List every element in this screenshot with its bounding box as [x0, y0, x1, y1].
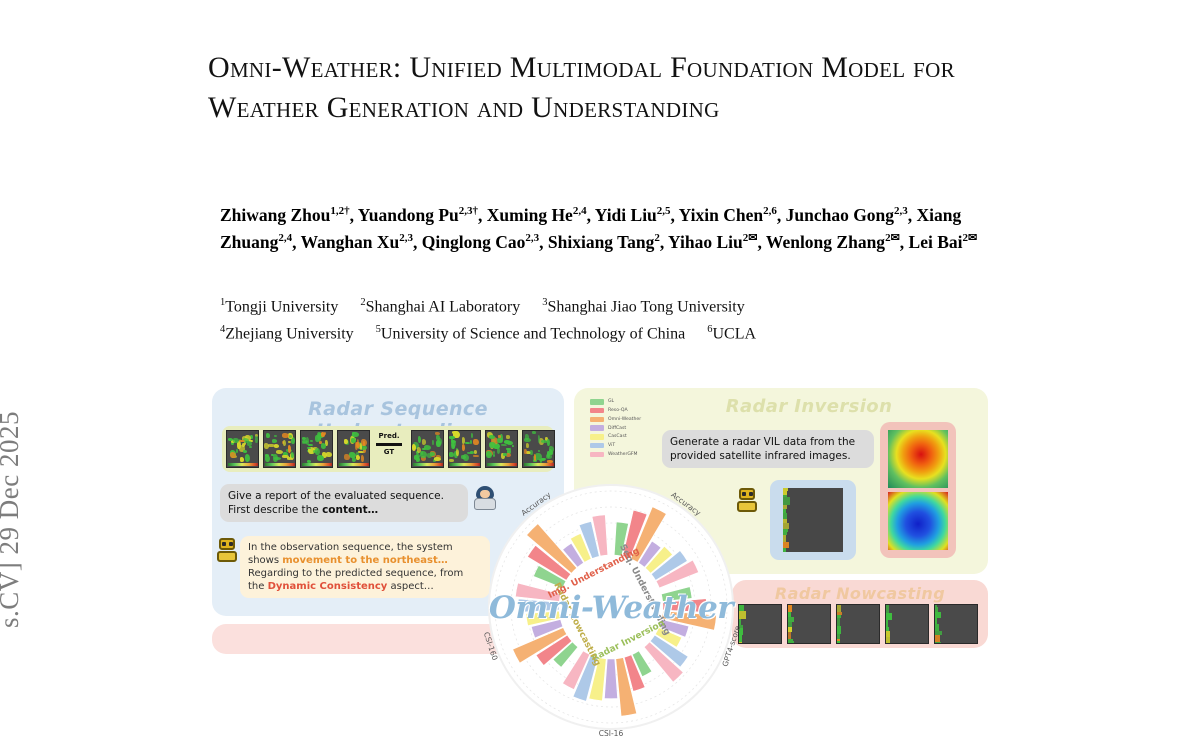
- pred-gt-divider: Pred.GT: [374, 432, 404, 466]
- legend-label: DiffCast: [608, 426, 626, 431]
- question-bubble-sequence: Give a report of the evaluated sequence.…: [220, 484, 468, 522]
- panel-heading-radar-inversion: Radar Inversion: [704, 396, 914, 417]
- radar-frame-strip: Pred.GT: [222, 426, 554, 472]
- author-name: Lei Bai2✉: [909, 232, 978, 252]
- chart-tick-label: CSI-16: [599, 729, 624, 736]
- legend-item: Reso-QA: [590, 407, 664, 415]
- answer-highlight-movement: movement to the northeast…: [282, 555, 448, 566]
- legend-swatch: [590, 408, 604, 414]
- nowcasting-frame: [934, 604, 978, 644]
- omni-weather-wordmark: Omni-Weather: [482, 590, 740, 626]
- legend-label: GL: [608, 399, 614, 404]
- question-bubble-inversion: Generate a radar VIL data from the provi…: [662, 430, 874, 468]
- chart-legend: GLReso-QAOmni-WeatherDiffCastCasCastViTW…: [590, 398, 664, 459]
- author-name: Zhiwang Zhou1,2†,: [220, 205, 358, 225]
- answer-highlight-dynamic-consistency: Dynamic Consistency: [268, 581, 388, 592]
- radar-frame: [263, 430, 296, 468]
- author-name: Xuming He2,4,: [487, 205, 595, 225]
- radar-frame: [448, 430, 481, 468]
- legend-label: Omni-Weather: [608, 417, 641, 422]
- legend-swatch: [590, 425, 604, 431]
- satellite-infrared-image-2: [888, 492, 948, 550]
- legend-item: GL: [590, 398, 664, 406]
- author-name: Yidi Liu2,5,: [595, 205, 679, 225]
- legend-label: Reso-QA: [608, 408, 628, 413]
- author-list: Zhiwang Zhou1,2†, Yuandong Pu2,3†, Xumin…: [220, 200, 1010, 255]
- author-name: Wenlong Zhang2✉,: [766, 232, 909, 252]
- legend-swatch: [590, 452, 604, 458]
- affiliation-item: 4Zhejiang University: [220, 318, 354, 345]
- inversion-input-image-container: [770, 480, 856, 560]
- legend-label: WeatherGFM: [608, 452, 638, 457]
- author-name: Shixiang Tang2,: [548, 232, 668, 252]
- satellite-infrared-images-container: [880, 422, 956, 558]
- satellite-infrared-image-1: [888, 430, 948, 488]
- nowcasting-frame: [885, 604, 929, 644]
- legend-item: Omni-Weather: [590, 416, 664, 424]
- legend-item: WeatherGFM: [590, 451, 664, 459]
- author-name: Wanghan Xu2,3,: [301, 232, 422, 252]
- legend-item: DiffCast: [590, 424, 664, 432]
- robot-avatar-sequence: [216, 538, 238, 562]
- legend-item: CasCast: [590, 433, 664, 441]
- legend-swatch: [590, 443, 604, 449]
- legend-swatch: [590, 417, 604, 423]
- circular-bar-chart: AccuracyGPT4-scoreCSI-16CSI-160AccuracyS…: [482, 478, 740, 736]
- paper-body: Omni-Weather: Unified Multimodal Foundat…: [0, 0, 1200, 648]
- affiliation-item: 6UCLA: [707, 318, 756, 345]
- page-title: Omni-Weather: Unified Multimodal Foundat…: [208, 48, 998, 128]
- author-name: Qinglong Cao2,3,: [422, 232, 548, 252]
- radar-frame: [522, 430, 555, 468]
- nowcasting-frame: [787, 604, 831, 644]
- answer-bubble-sequence: In the observation sequence, the system …: [240, 536, 490, 598]
- question-text-inversion: Generate a radar VIL data from the provi…: [670, 436, 855, 462]
- question-text-sequence-bold: content…: [322, 504, 378, 516]
- legend-label: ViT: [608, 443, 615, 448]
- panel-heading-radar-nowcasting: Radar Nowcasting: [732, 584, 988, 603]
- affiliation-list: 1Tongji University2Shanghai AI Laborator…: [220, 291, 1010, 346]
- author-name: Yuandong Pu2,3†,: [358, 205, 487, 225]
- radar-frame: [226, 430, 259, 468]
- legend-swatch: [590, 434, 604, 440]
- legend-swatch: [590, 399, 604, 405]
- radar-vil-output-image: [783, 488, 843, 552]
- legend-label: CasCast: [608, 434, 627, 439]
- author-name: Junchao Gong2,3,: [786, 205, 917, 225]
- affiliation-item: 2Shanghai AI Laboratory: [360, 291, 520, 318]
- panel-radar-nowcasting: Radar Nowcasting: [732, 580, 988, 648]
- affiliation-item: 5University of Science and Technology of…: [376, 318, 686, 345]
- radar-frame: [411, 430, 444, 468]
- nowcasting-frame: [738, 604, 782, 644]
- affiliation-item: 1Tongji University: [220, 291, 338, 318]
- author-name: Yihao Liu2✉,: [668, 232, 766, 252]
- author-name: Yixin Chen2,6,: [679, 205, 786, 225]
- answer-text-part3: aspect…: [387, 581, 433, 592]
- legend-item: ViT: [590, 442, 664, 450]
- affiliation-item: 3Shanghai Jiao Tong University: [542, 291, 744, 318]
- radar-frame: [485, 430, 518, 468]
- radar-frame: [300, 430, 333, 468]
- radar-frame: [337, 430, 370, 468]
- teaser-figure: Radar Sequence Understanding Pred.GT Giv…: [212, 388, 988, 648]
- nowcasting-frame: [836, 604, 880, 644]
